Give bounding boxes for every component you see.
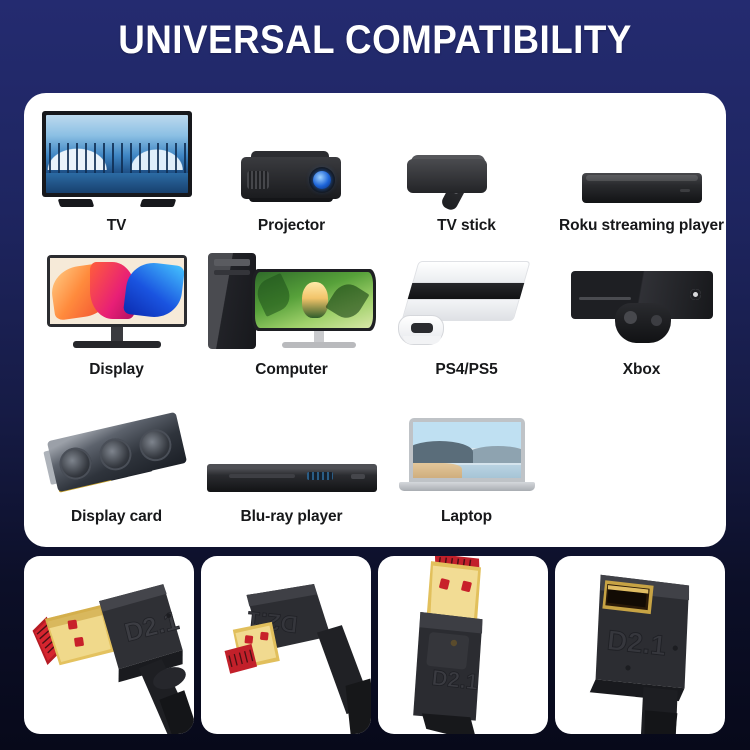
device-item-tv: TV bbox=[29, 107, 204, 234]
right-angle-displayport-male-rotated-photo: D2.1 bbox=[201, 556, 371, 734]
product-photo-strip: D2.1 D2.1 bbox=[24, 556, 726, 734]
compatibility-card: TV Projector TV stick bbox=[24, 93, 726, 547]
device-item-computer: Computer bbox=[204, 251, 379, 378]
device-item-laptop: Laptop bbox=[379, 398, 554, 525]
bluray-player-icon bbox=[207, 456, 377, 502]
svg-text:D2.1: D2.1 bbox=[431, 665, 480, 695]
device-label: Blu-ray player bbox=[204, 508, 379, 525]
xbox-icon bbox=[567, 263, 717, 355]
display-thumb bbox=[29, 251, 204, 355]
graphics-card-icon bbox=[47, 416, 187, 502]
svg-text:D2.1: D2.1 bbox=[606, 624, 668, 661]
device-label: Xbox bbox=[554, 361, 729, 378]
right-angle-displayport-male-front-photo: D2.1 bbox=[24, 556, 194, 734]
device-label: Display bbox=[29, 361, 204, 378]
laptop-icon bbox=[399, 418, 535, 502]
device-item-tv-stick: TV stick bbox=[379, 107, 554, 234]
xbox-thumb bbox=[554, 251, 729, 355]
device-item-display: Display bbox=[29, 251, 204, 378]
device-label: Computer bbox=[204, 361, 379, 378]
product-tile-right-angle-rotated[interactable]: D2.1 bbox=[201, 556, 371, 734]
projector-icon bbox=[237, 143, 347, 211]
device-label: TV stick bbox=[379, 217, 554, 234]
device-grid: TV Projector TV stick bbox=[24, 93, 726, 547]
displayport-female-socket-photo: D2.1 bbox=[555, 556, 725, 734]
laptop-thumb bbox=[379, 398, 554, 502]
infographic-page: UNIVERSAL COMPATIBILITY TV bbox=[0, 0, 750, 750]
bluray-thumb bbox=[204, 398, 379, 502]
tv-stick-icon bbox=[407, 145, 527, 211]
display-monitor-icon bbox=[47, 255, 187, 355]
device-item-xbox: Xbox bbox=[554, 251, 729, 378]
device-label: PS4/PS5 bbox=[379, 361, 554, 378]
device-item-roku: Roku streaming player bbox=[554, 107, 729, 234]
playstation-thumb bbox=[379, 251, 554, 355]
roku-streaming-player-icon bbox=[582, 165, 702, 211]
playstation-icon bbox=[392, 255, 542, 355]
tv-stick-thumb bbox=[379, 107, 554, 211]
device-label: Projector bbox=[204, 217, 379, 234]
device-label: Roku streaming player bbox=[554, 217, 729, 234]
product-tile-straight-male[interactable]: D2.1 bbox=[378, 556, 548, 734]
product-tile-right-angle-front[interactable]: D2.1 bbox=[24, 556, 194, 734]
product-tile-female-socket[interactable]: D2.1 bbox=[555, 556, 725, 734]
straight-displayport-male-photo: D2.1 bbox=[378, 556, 548, 734]
device-label: TV bbox=[29, 217, 204, 234]
projector-thumb bbox=[204, 107, 379, 211]
device-item-projector: Projector bbox=[204, 107, 379, 234]
device-label: Laptop bbox=[379, 508, 554, 525]
device-item-playstation: PS4/PS5 bbox=[379, 251, 554, 378]
device-item-bluray: Blu-ray player bbox=[204, 398, 379, 525]
computer-icon bbox=[208, 251, 376, 355]
device-label: Display card bbox=[29, 508, 204, 525]
display-card-thumb bbox=[29, 398, 204, 502]
tv-icon bbox=[42, 111, 192, 211]
tv-thumb bbox=[29, 107, 204, 211]
page-title: UNIVERSAL COMPATIBILITY bbox=[30, 18, 720, 63]
device-item-display-card: Display card bbox=[29, 398, 204, 525]
roku-thumb bbox=[554, 107, 729, 211]
computer-thumb bbox=[204, 251, 379, 355]
